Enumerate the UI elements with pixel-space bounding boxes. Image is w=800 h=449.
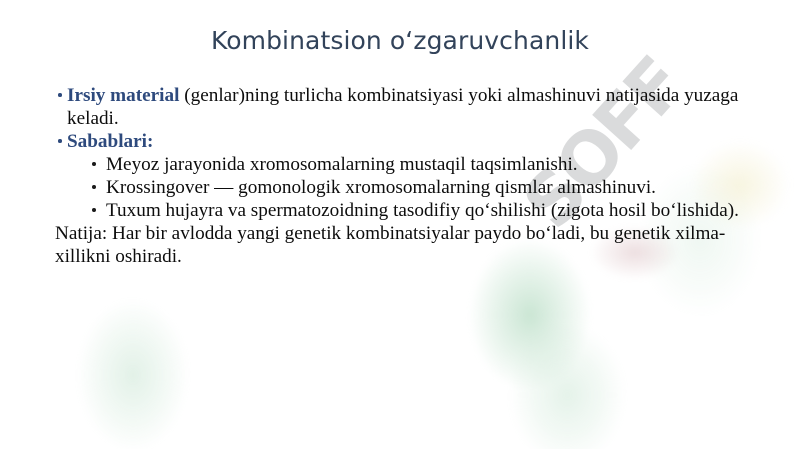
bullet-dot-icon — [58, 139, 62, 143]
sub-bullet-text: Krossingover — gomonologik xromosomalarn… — [106, 177, 656, 198]
list-item: Meyoz jarayonida xromosomalarning mustaq… — [55, 153, 775, 176]
sub-bullet-text: Meyoz jarayonida xromosomalarning mustaq… — [106, 154, 578, 175]
slide-title: Kombinatsion o‘zgaruvchanlik — [0, 26, 800, 55]
bullet-item-irsiy-material: Irsiy material (genlar)ning turlicha kom… — [55, 84, 775, 130]
bullet-dot-icon — [58, 93, 62, 97]
slide-body: Irsiy material (genlar)ning turlicha kom… — [55, 84, 775, 268]
green-blob-watermark — [78, 300, 188, 449]
sub-bullet-list: Meyoz jarayonida xromosomalarning mustaq… — [55, 153, 775, 222]
bullet-lead-irsiy-material: Irsiy material — [67, 85, 179, 106]
bullet-dot-icon — [92, 185, 96, 189]
bullet-dot-icon — [92, 162, 96, 166]
slide-canvas: SOFF Kombinatsion o‘zgaruvchanlik Irsiy … — [0, 0, 800, 449]
bullet-item-sabablari: Sabablari: — [55, 130, 775, 153]
bullet-lead-sabablari: Sabablari: — [67, 131, 153, 152]
sub-bullet-text: Tuxum hujayra va spermatozoidning tasodi… — [106, 200, 739, 221]
list-item: Tuxum hujayra va spermatozoidning tasodi… — [55, 199, 775, 222]
green-blob-watermark — [510, 325, 625, 449]
bullet-dot-icon — [92, 208, 96, 212]
list-item: Krossingover — gomonologik xromosomalarn… — [55, 176, 775, 199]
conclusion-text: Natija: Har bir avlodda yangi genetik ko… — [55, 222, 775, 268]
